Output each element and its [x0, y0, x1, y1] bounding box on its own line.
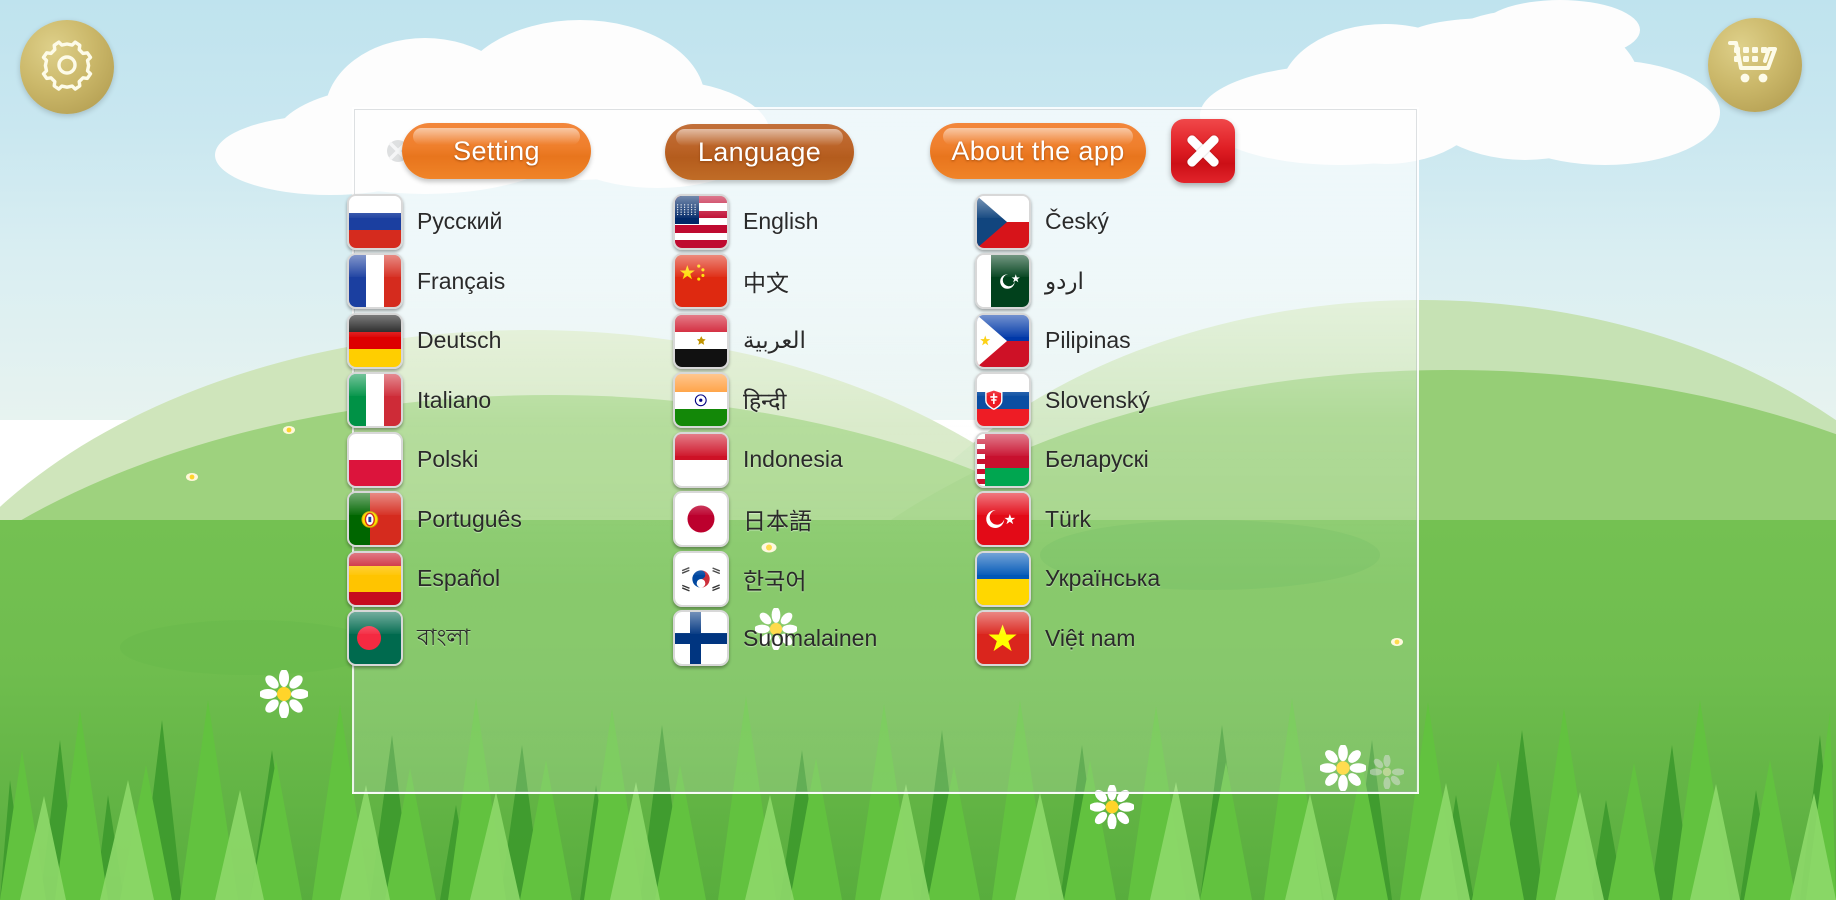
- language-label: Suomalainen: [743, 625, 877, 652]
- flag-icon-fi: [673, 610, 729, 666]
- tab-about-the-app[interactable]: About the app: [930, 123, 1146, 179]
- language-label: Türk: [1045, 506, 1091, 533]
- language-item-kr[interactable]: 한국어: [673, 549, 973, 609]
- language-item-pl[interactable]: Polski: [347, 430, 647, 490]
- language-label: Český: [1045, 208, 1109, 235]
- language-label: Slovenský: [1045, 387, 1150, 414]
- language-item-ua[interactable]: Українська: [975, 549, 1275, 609]
- daisy-small-1: [282, 423, 296, 441]
- language-item-cn[interactable]: 中文: [673, 252, 973, 312]
- flag-icon-sk: [975, 372, 1031, 428]
- flag-icon-bd: [347, 610, 403, 666]
- language-label: Pilipinas: [1045, 327, 1131, 354]
- flag-icon-it: [347, 372, 403, 428]
- language-item-cz[interactable]: Český: [975, 192, 1275, 252]
- language-item-jp[interactable]: 日本語: [673, 490, 973, 550]
- language-item-by[interactable]: Беларускі: [975, 430, 1275, 490]
- flag-icon-es: [347, 551, 403, 607]
- language-item-fr[interactable]: Français: [347, 252, 647, 312]
- language-item-bd[interactable]: বাংলা: [347, 609, 647, 669]
- shop-cart-button[interactable]: [1708, 18, 1802, 112]
- language-label: Indonesia: [743, 446, 843, 473]
- language-item-pk[interactable]: اردو: [975, 252, 1275, 312]
- tab-setting[interactable]: Setting: [402, 123, 591, 179]
- language-column-3: Český اردو Pilipinas: [975, 192, 1275, 668]
- language-label: 한국어: [743, 562, 806, 596]
- language-item-pt[interactable]: Português: [347, 490, 647, 550]
- flag-icon-fr: [347, 253, 403, 309]
- flag-icon-ph: [975, 313, 1031, 369]
- flag-icon-pt: [347, 491, 403, 547]
- language-label: العربية: [743, 327, 806, 354]
- settings-gear-button[interactable]: [20, 20, 114, 114]
- language-item-sk[interactable]: Slovenský: [975, 371, 1275, 431]
- language-label: Українська: [1045, 565, 1160, 592]
- flag-icon-cn: [673, 253, 729, 309]
- language-item-es[interactable]: Español: [347, 549, 647, 609]
- language-item-vn[interactable]: Việt nam: [975, 609, 1275, 669]
- flag-icon-jp: [673, 491, 729, 547]
- language-item-fi[interactable]: Suomalainen: [673, 609, 973, 669]
- daisy-small-2: [185, 470, 199, 488]
- flag-icon-pk: [975, 253, 1031, 309]
- language-column-1: РусскийFrançaisDeutschItalianoPolski Por…: [347, 192, 647, 668]
- tab-language[interactable]: Language: [665, 124, 854, 180]
- language-label: 中文: [743, 264, 789, 298]
- language-label: Português: [417, 506, 522, 533]
- daisy-1: [260, 670, 308, 723]
- flag-icon-de: [347, 313, 403, 369]
- flag-icon-in: [673, 372, 729, 428]
- language-label: Polski: [417, 446, 478, 473]
- language-label: বাংলা: [417, 619, 470, 658]
- dialog-tab-bar: Setting Language About the app: [354, 109, 1417, 194]
- flag-icon-ru: [347, 194, 403, 250]
- cloud-small-top: [1400, 0, 1660, 60]
- flag-icon-ua: [975, 551, 1031, 607]
- flag-icon-vn: [975, 610, 1031, 666]
- language-label: हिन्दी: [743, 384, 786, 416]
- language-column-2: English 中文 العربية हिन्: [673, 192, 973, 668]
- language-label: Italiano: [417, 387, 491, 414]
- app-stage: Setting Language About the app РусскийFr…: [0, 0, 1836, 900]
- language-label: Русский: [417, 208, 502, 235]
- language-item-tr[interactable]: Türk: [975, 490, 1275, 550]
- language-label: English: [743, 208, 818, 235]
- gear-icon: [40, 38, 94, 97]
- language-label: Việt nam: [1045, 625, 1135, 652]
- flag-icon-tr: [975, 491, 1031, 547]
- language-label: Беларускі: [1045, 446, 1149, 473]
- shopping-cart-icon: [1728, 38, 1782, 93]
- flag-icon-id: [673, 432, 729, 488]
- flag-icon-cz: [975, 194, 1031, 250]
- flag-icon-pl: [347, 432, 403, 488]
- flag-icon-by: [975, 432, 1031, 488]
- language-label: 日本語: [743, 502, 812, 536]
- language-item-de[interactable]: Deutsch: [347, 311, 647, 371]
- language-label: Deutsch: [417, 327, 501, 354]
- language-item-it[interactable]: Italiano: [347, 371, 647, 431]
- language-item-ru[interactable]: Русский: [347, 192, 647, 252]
- language-item-ph[interactable]: Pilipinas: [975, 311, 1275, 371]
- language-item-us[interactable]: English: [673, 192, 973, 252]
- language-label: Español: [417, 565, 500, 592]
- tab-language-label: Language: [698, 137, 821, 167]
- flag-icon-us: [673, 194, 729, 250]
- flag-icon-eg: [673, 313, 729, 369]
- language-label: اردو: [1045, 268, 1084, 295]
- language-item-in[interactable]: हिन्दी: [673, 371, 973, 431]
- language-item-eg[interactable]: العربية: [673, 311, 973, 371]
- flag-icon-kr: [673, 551, 729, 607]
- language-item-id[interactable]: Indonesia: [673, 430, 973, 490]
- tab-setting-label: Setting: [453, 136, 540, 166]
- tab-about-label: About the app: [951, 136, 1124, 166]
- close-dialog-button[interactable]: [1171, 119, 1235, 183]
- language-label: Français: [417, 268, 505, 295]
